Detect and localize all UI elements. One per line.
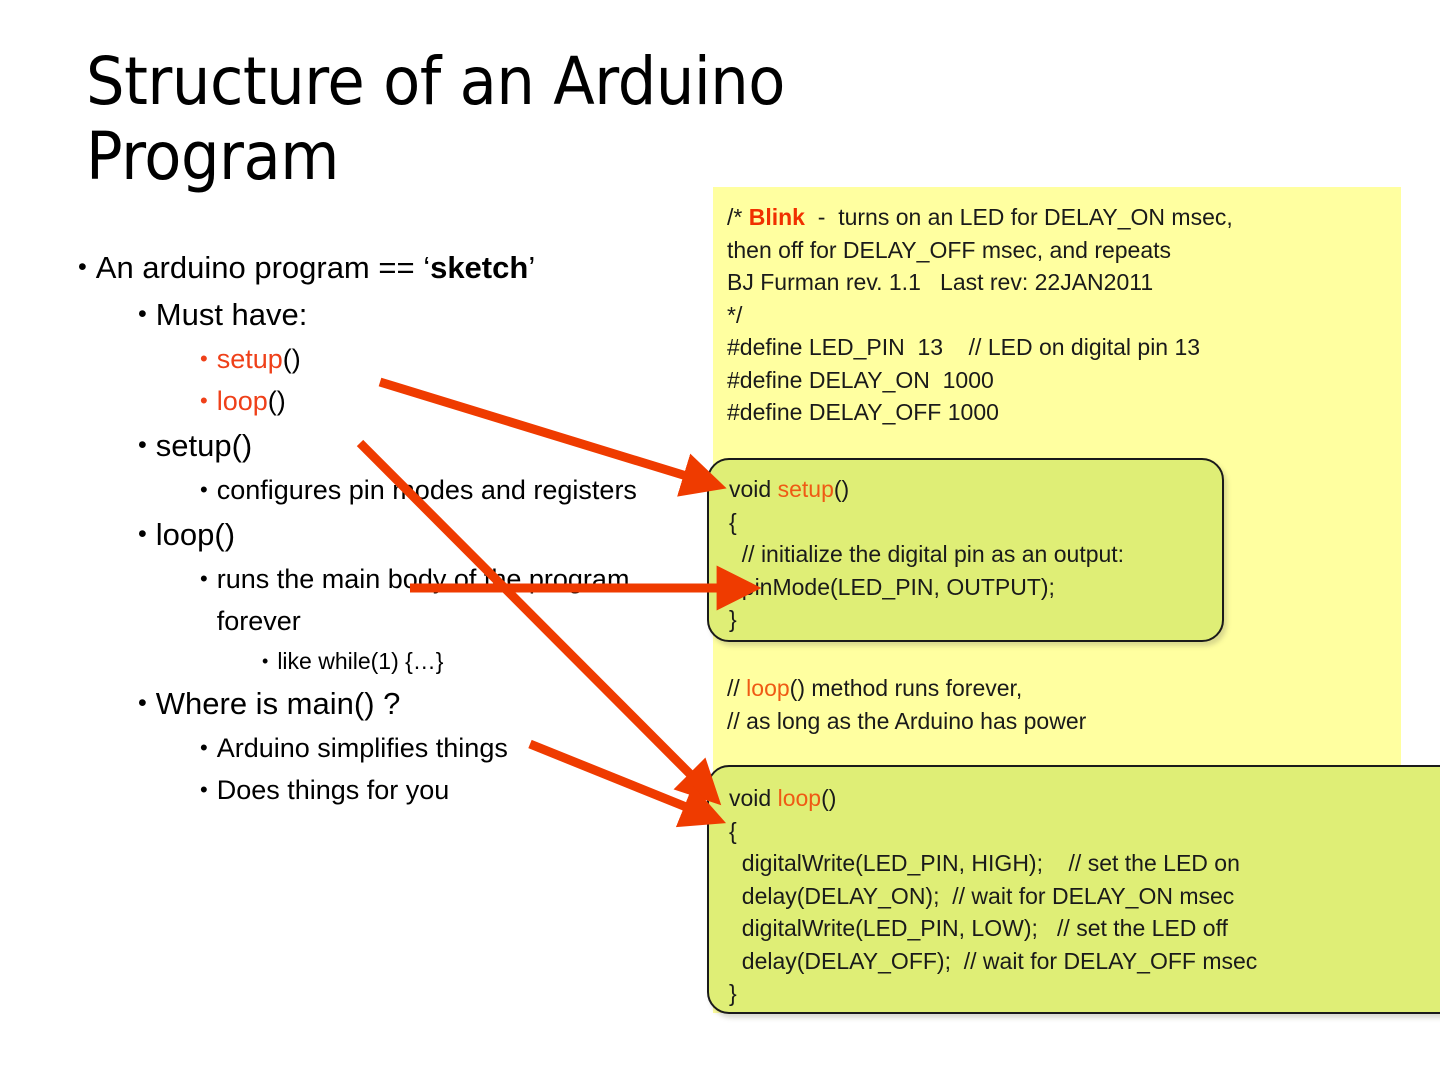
page-title: Structure of an Arduino Program <box>86 44 1006 194</box>
list-item: • like while(1) {…} <box>262 642 708 680</box>
list-item-loop: • loop() <box>200 380 708 422</box>
list-item-label: Where is main() ? <box>156 680 708 727</box>
list-item-label: Must have: <box>156 291 708 338</box>
list-item-label: setup() <box>217 338 708 380</box>
bullet-dot-icon: • <box>200 338 208 380</box>
setup-keyword: setup <box>778 476 834 502</box>
blink-keyword: Blink <box>749 204 805 230</box>
bullet-list: • An arduino program == ‘sketch’ • Must … <box>78 244 708 811</box>
list-item-label: setup() <box>156 422 708 469</box>
bullet-dot-icon: • <box>262 642 268 680</box>
list-item-label: runs the main body of the program foreve… <box>217 558 708 642</box>
list-item: • runs the main body of the program fore… <box>200 558 708 642</box>
list-item: • Arduino simplifies things <box>200 727 708 769</box>
setup-code-box: void setup() { // initialize the digital… <box>707 458 1224 642</box>
bullet-dot-icon: • <box>200 380 208 422</box>
list-item: • Must have: <box>138 291 708 338</box>
bullet-dot-icon: • <box>138 422 147 469</box>
loop-code-box: void loop() { digitalWrite(LED_PIN, HIGH… <box>707 765 1440 1014</box>
bullet-dot-icon: • <box>200 727 208 769</box>
list-item: • Does things for you <box>200 769 708 811</box>
list-item-label: Does things for you <box>217 769 708 811</box>
list-item-label: loop() <box>156 511 708 558</box>
loop-keyword: loop <box>746 675 789 701</box>
list-item-setup: • setup() <box>200 338 708 380</box>
bullet-dot-icon: • <box>78 244 87 291</box>
list-item-label: loop() <box>217 380 708 422</box>
bullet-dot-icon: • <box>138 511 147 558</box>
list-item: • An arduino program == ‘sketch’ <box>78 244 708 291</box>
setup-code-text: void setup() { // initialize the digital… <box>729 473 1124 636</box>
bullet-dot-icon: • <box>138 291 147 338</box>
bullet-dot-icon: • <box>200 469 208 511</box>
loop-comment-text: // loop() method runs forever, // as lon… <box>727 672 1086 737</box>
code-panel: /* Blink - turns on an LED for DELAY_ON … <box>713 187 1401 1013</box>
list-item: • Where is main() ? <box>138 680 708 727</box>
list-item: • loop() <box>138 511 708 558</box>
bullet-dot-icon: • <box>200 558 208 600</box>
code-header-comment: /* Blink - turns on an LED for DELAY_ON … <box>727 201 1233 429</box>
list-item-label: configures pin modes and registers <box>217 469 708 511</box>
list-item-label: like while(1) {…} <box>277 642 708 680</box>
bullet-dot-icon: • <box>138 680 147 727</box>
bullet-dot-icon: • <box>200 769 208 811</box>
list-item: • setup() <box>138 422 708 469</box>
loop-code-text: void loop() { digitalWrite(LED_PIN, HIGH… <box>729 782 1257 1010</box>
loop-keyword: loop <box>778 785 821 811</box>
list-item-label: An arduino program == ‘sketch’ <box>96 244 708 291</box>
list-item-label: Arduino simplifies things <box>217 727 708 769</box>
list-item: • configures pin modes and registers <box>200 469 708 511</box>
